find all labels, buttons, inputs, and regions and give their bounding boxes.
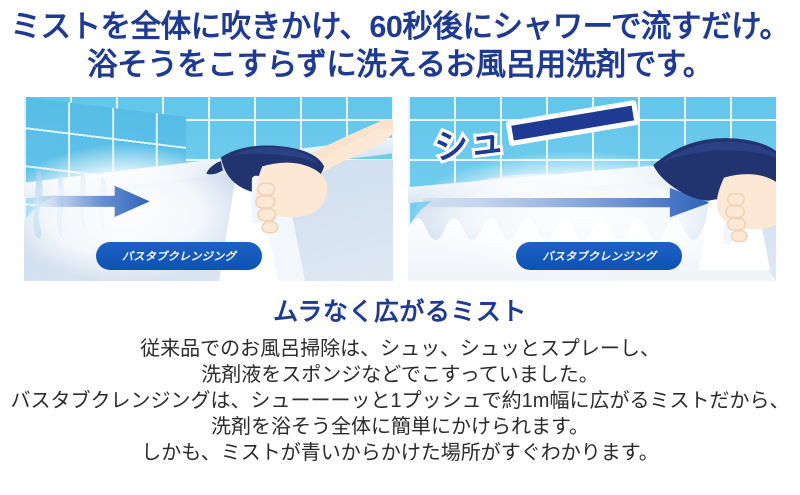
panel-right: シュ — [408, 97, 776, 281]
body-line-3: バスタブクレンジングは、シューーーッと1プッシュで約1m幅に広がるミストだから、 — [0, 388, 800, 414]
headline-line-2: 浴そうをこすらずに洗えるお風呂用洗剤です。 — [6, 46, 794, 84]
advertisement-page: ミストを全体に吹きかけ、60秒後にシャワーで流すだけ。 浴そうをこすらずに洗える… — [0, 0, 800, 495]
product-label-left: バスタブクレンジング — [96, 242, 262, 270]
body-copy: 従来品でのお風呂掃除は、シュッ、シュッとスプレーし、 洗剤液をスポンジなどでこす… — [0, 336, 800, 466]
headline: ミストを全体に吹きかけ、60秒後にシャワーで流すだけ。 浴そうをこすらずに洗える… — [0, 0, 800, 84]
panel-left: バスタブクレンジング — [24, 97, 393, 281]
body-line-1: 従来品でのお風呂掃除は、シュッ、シュッとスプレーし、 — [0, 336, 800, 362]
body-line-4: 洗剤を浴そう全体に簡単にかけられます。 — [0, 414, 800, 440]
product-label-right: バスタブクレンジング — [516, 242, 682, 270]
headline-line-1: ミストを全体に吹きかけ、60秒後にシャワーで流すだけ。 — [6, 8, 794, 46]
illustration-panels: バスタブクレンジング — [0, 97, 800, 281]
sound-effect-text: シュ — [432, 123, 506, 165]
body-line-2: 洗剤液をスポンジなどでこすっていました。 — [0, 362, 800, 388]
body-line-5: しかも、ミストが青いからかけた場所がすぐわかります。 — [0, 440, 800, 466]
subhead: ムラなく広がるミスト — [0, 292, 800, 328]
spray-direction-arrow-left-icon — [39, 183, 150, 220]
